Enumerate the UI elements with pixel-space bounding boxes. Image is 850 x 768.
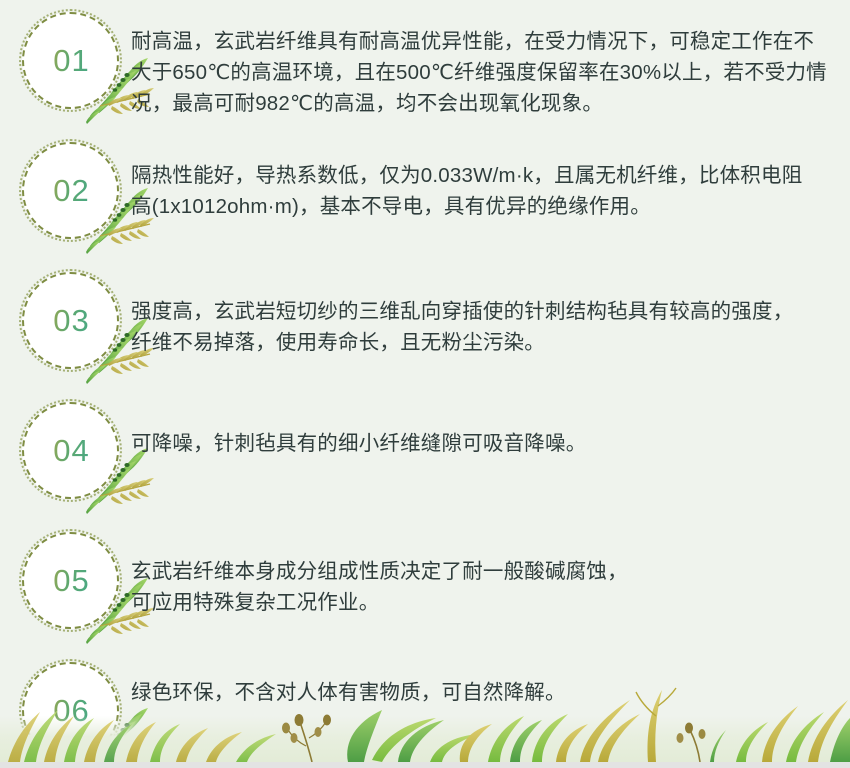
feature-description: 玄武岩纤维本身成分组成性质决定了耐一般酸碱腐蚀， 可应用特殊复杂工况作业。	[131, 556, 831, 618]
feature-row: 01	[0, 4, 850, 122]
feature-list-page: 01	[0, 0, 850, 768]
feature-row: 03	[0, 264, 850, 382]
feature-row: 02	[0, 134, 850, 252]
feature-description: 隔热性能好，导热系数低，仅为0.033W/m·k，且属无机纤维，比体积电阻 高(…	[131, 160, 831, 222]
feature-row: 05	[0, 524, 850, 642]
feature-badge-06: 06	[22, 662, 119, 759]
badge-number: 04	[22, 402, 119, 499]
feature-row: 04	[0, 394, 850, 512]
feature-description: 耐高温，玄武岩纤维具有耐高温优异性能，在受力情况下，可稳定工作在不 大于650℃…	[131, 26, 831, 119]
feature-row: 06	[0, 654, 850, 768]
bottom-strip	[0, 762, 850, 768]
feature-badge-03: 03	[22, 272, 119, 369]
badge-number: 02	[22, 142, 119, 239]
feature-description: 强度高，玄武岩短切纱的三维乱向穿插使的针刺结构毡具有较高的强度， 纤维不易掉落，…	[131, 296, 831, 358]
badge-number: 01	[22, 12, 119, 109]
badge-number: 06	[22, 662, 119, 759]
feature-badge-05: 05	[22, 532, 119, 629]
feature-badge-04: 04	[22, 402, 119, 499]
badge-number: 03	[22, 272, 119, 369]
feature-description: 可降噪，针刺毡具有的细小纤维缝隙可吸音降噪。	[131, 428, 831, 459]
feature-badge-02: 02	[22, 142, 119, 239]
feature-description: 绿色环保，不含对人体有害物质，可自然降解。	[131, 677, 831, 708]
feature-badge-01: 01	[22, 12, 119, 109]
badge-number: 05	[22, 532, 119, 629]
